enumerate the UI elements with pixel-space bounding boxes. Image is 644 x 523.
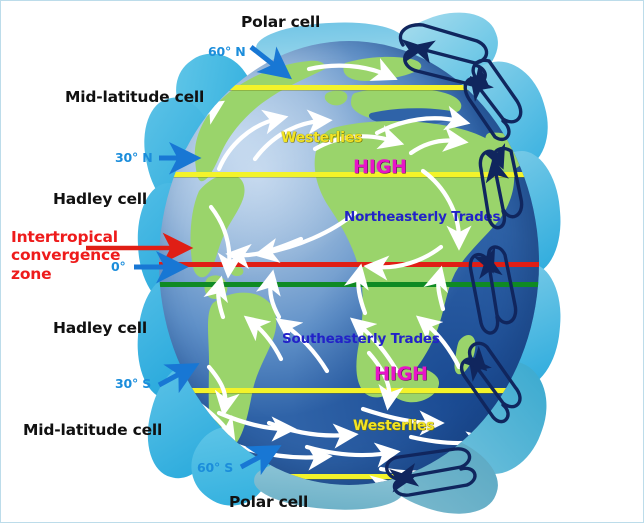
loop-hadley-south <box>470 247 515 333</box>
globe-assembly: Westerlies HIGH Northeasterly Trades Sou… <box>144 23 554 503</box>
label-latitude-60s: 60° S <box>197 461 233 476</box>
itcz-line-3: zone <box>11 265 120 283</box>
label-hadley-cell-south: Hadley cell <box>53 319 147 337</box>
label-hadley-cell-north: Hadley cell <box>53 190 147 208</box>
label-latitude-0: 0° <box>111 260 126 275</box>
pointer-arrow-60s <box>241 445 289 475</box>
loop-ferrel-north <box>465 60 520 139</box>
pointer-arrow-60n <box>249 43 295 83</box>
loop-hadley-north <box>480 148 521 227</box>
pointer-arrow-30n <box>159 150 207 168</box>
itcz-pointer-arrow <box>86 237 196 259</box>
label-mid-latitude-cell-north: Mid-latitude cell <box>65 88 204 106</box>
pointer-arrow-30s <box>159 361 207 391</box>
label-mid-latitude-cell-south: Mid-latitude cell <box>23 421 162 439</box>
label-latitude-30n: 30° N <box>115 151 152 166</box>
label-polar-cell-north: Polar cell <box>241 13 320 31</box>
loop-ferrel-south <box>462 343 520 421</box>
circulation-loop-arrows <box>139 9 559 509</box>
label-polar-cell-south: Polar cell <box>229 493 308 511</box>
label-latitude-30s: 30° S <box>115 377 151 392</box>
pointer-arrow-equator <box>134 259 190 277</box>
loop-polar-south <box>387 449 475 495</box>
label-latitude-60n: 60° N <box>208 45 245 60</box>
diagram-canvas: Westerlies HIGH Northeasterly Trades Sou… <box>0 0 644 523</box>
